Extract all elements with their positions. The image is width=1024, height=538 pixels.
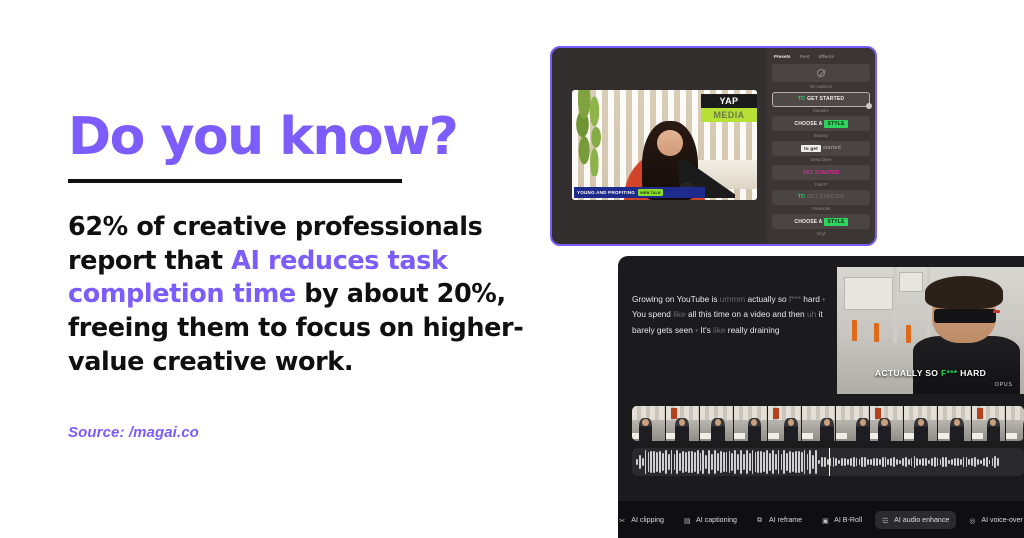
waveform-bar: [960, 459, 962, 465]
waveform-bar: [873, 458, 875, 467]
waveform-bar: [957, 458, 959, 465]
waveform-bar: [702, 450, 704, 474]
sunglasses-icon: [934, 309, 997, 323]
waveform-bar: [639, 455, 641, 469]
preset-karaoke-word-1: TO: [798, 96, 805, 102]
waveform-bar: [940, 459, 942, 465]
preset-bouncy-word-2: STYLE: [824, 120, 847, 128]
video-player[interactable]: ACTUALLY SO F*** HARD OPUS: [837, 267, 1024, 394]
frame-table: [700, 433, 711, 439]
frame-subject: [711, 418, 725, 441]
frame-subject: [987, 418, 1001, 441]
frame-subject: [820, 418, 834, 441]
frame-table: [802, 433, 813, 439]
waveform-bar: [821, 457, 823, 466]
waveform-bar: [844, 458, 846, 466]
waveform-bar: [911, 458, 913, 466]
preset-item-past-p[interactable]: GET STARTED Past P: [772, 165, 870, 187]
waveform-bar: [905, 457, 907, 467]
waveform-bar: [859, 459, 861, 464]
waveform-bar: [928, 460, 930, 465]
scissors-icon: ✂: [619, 516, 627, 524]
waveform-bar: [914, 456, 916, 467]
preset-label-karaoke: Karaoke: [813, 108, 829, 113]
waveform-bar: [749, 453, 751, 471]
waveform-bar: [642, 458, 644, 465]
waveform-bar: [879, 459, 881, 464]
waveform-bar: [769, 453, 771, 471]
tab-font[interactable]: Font: [800, 54, 810, 59]
waveform-bar: [708, 450, 710, 474]
preset-list: No captions TO GET STARTED Karaoke CHOOS…: [772, 64, 870, 236]
waveform-bar: [809, 450, 811, 474]
waveform-bar: [885, 457, 887, 468]
waveform-bar: [902, 458, 904, 467]
waveform-bar: [746, 450, 748, 474]
waveform-bar: [743, 454, 745, 469]
frame-accent: [773, 408, 780, 419]
timeline-editor-card: Growing on YouTube is ummm actually so f…: [618, 256, 1024, 538]
audio-waveform-track[interactable]: [632, 448, 1024, 476]
waveform-bar: [705, 455, 707, 470]
caption-overlay: ACTUALLY SO F*** HARD: [837, 368, 1024, 378]
transcript-word-group[interactable]: It's: [698, 325, 713, 335]
frame-subject: [784, 418, 798, 441]
waveform-bar: [850, 458, 852, 466]
sign-bottom-text: MEDIA: [701, 108, 757, 122]
waveform-bar: [755, 452, 757, 472]
title-divider: [68, 179, 402, 183]
waveform-bar: [980, 460, 982, 465]
waveform-bar: [997, 458, 999, 466]
preset-swatch-bouncy[interactable]: CHOOSE A STYLE: [772, 116, 870, 131]
filmstrip-frame[interactable]: [1006, 406, 1024, 441]
waveform-bar: [653, 451, 655, 472]
frame-subject: [748, 418, 762, 441]
transcript-filler-word[interactable]: •: [822, 294, 825, 304]
waveform-bar: [937, 458, 939, 466]
waveform-bar: [971, 458, 973, 466]
waveform-bar: [714, 450, 716, 474]
frame-bg: [1006, 406, 1024, 420]
waveform-bar: [835, 458, 837, 466]
waveform-bar: [720, 451, 722, 473]
waveform-bar: [734, 450, 736, 474]
preset-swatch-facebook[interactable]: TO GET STARTED: [772, 190, 870, 205]
waveform-bar: [679, 453, 681, 471]
waveform-bar: [674, 454, 676, 470]
waveform-bar: [954, 458, 956, 466]
filmstrip-frame[interactable]: [734, 406, 768, 441]
waveform-bar: [766, 450, 768, 473]
caption-highlight: F***: [941, 368, 957, 378]
waveform-bar: [700, 453, 702, 470]
transcript-word-group[interactable]: really draining: [726, 325, 780, 335]
waveform-bar: [853, 457, 855, 468]
frame-subject: [639, 418, 653, 441]
waveform-bar: [899, 460, 901, 465]
waveform-bar: [931, 458, 933, 466]
filmstrip-frame[interactable]: [666, 406, 700, 441]
waveform-bar: [792, 452, 794, 473]
waveform-bar: [945, 457, 947, 467]
filmstrip-frame[interactable]: [904, 406, 938, 441]
filmstrip-frame[interactable]: [802, 406, 836, 441]
frame-subject: [856, 418, 870, 441]
tab-effects[interactable]: Effects: [819, 54, 834, 59]
lower-third-banner: YOUNG AND PROFITING WEB TALK: [574, 187, 705, 198]
waveform-bar: [804, 450, 806, 473]
waveform-bar: [645, 450, 647, 473]
waveform-bar: [934, 457, 936, 468]
tab-presets[interactable]: Presets: [774, 54, 791, 59]
preset-item-bouncy[interactable]: CHOOSE A STYLE Bouncy: [772, 116, 870, 138]
waveform-bar: [731, 453, 733, 472]
waveform-bar: [812, 455, 814, 470]
crop-icon: ⧉: [757, 516, 765, 524]
preset-swatch-vinyl[interactable]: CHOOSE A STYLE: [772, 214, 870, 229]
preset-label-deep-diver: Deep Diver: [811, 157, 832, 162]
preset-vinyl-word-1: CHOOSE A: [794, 219, 822, 225]
transcript-filler-word[interactable]: uh: [807, 309, 816, 319]
ai-tools-toolbar: ✂AI clipping▤AI captioning⧉AI reframe▣AI…: [618, 501, 1024, 538]
waveform-bar: [726, 452, 728, 473]
caption-before: ACTUALLY SO: [875, 368, 941, 378]
captions-tabs: Presets Font Effects: [772, 54, 870, 64]
preset-deep-word-1: to get: [801, 145, 821, 152]
waveform-bar: [948, 460, 950, 465]
preset-item-karaoke[interactable]: TO GET STARTED Karaoke: [772, 92, 870, 114]
watermark-logo: OPUS: [995, 382, 1013, 388]
frame-accent: [977, 408, 984, 419]
waveform-bar: [974, 457, 976, 467]
waveform-bar: [916, 458, 918, 466]
waveform-bar: [676, 450, 678, 474]
timeline[interactable]: [632, 406, 1024, 476]
slide-root: Do you know? 62% of creative professiona…: [0, 0, 1024, 538]
waveform-bar: [778, 450, 780, 474]
video-preview[interactable]: YAP MEDIA YOUNG AND PROFITING WEB TALK: [572, 90, 757, 200]
waveform-bar: [922, 458, 924, 466]
preset-vinyl-word-2: STYLE: [824, 218, 847, 226]
frame-accent: [875, 408, 882, 419]
waveform-bar: [841, 458, 843, 466]
toolbar-item-ai-b-roll[interactable]: ▣AI B-Roll: [815, 511, 869, 529]
transcript-filler-word[interactable]: like: [713, 325, 725, 335]
waveform-bar: [867, 459, 869, 464]
waveform-bar: [992, 458, 994, 467]
toolbar-item-label: AI B-Roll: [834, 516, 862, 524]
waveform-bar: [723, 452, 725, 473]
waveform-bar: [786, 453, 788, 472]
waveform-bar: [951, 459, 953, 466]
filmstrip-frame[interactable]: [938, 406, 972, 441]
transcript-word-group[interactable]: all this time on a video and then: [686, 309, 807, 319]
preset-swatch-deep-diver[interactable]: to get started: [772, 141, 870, 156]
captions-editor-stage: YAP MEDIA YOUNG AND PROFITING WEB TALK: [552, 48, 767, 244]
preset-label-vinyl: Vinyl: [816, 231, 825, 236]
waveform-bar: [882, 457, 884, 467]
waveform-bar: [775, 454, 777, 469]
toolbar-item-label: AI voice-over: [981, 516, 1022, 524]
editor-upper-area: Growing on YouTube is ummm actually so f…: [618, 256, 1024, 394]
preset-label-bouncy: Bouncy: [814, 133, 828, 138]
waveform-bar: [801, 452, 803, 471]
waveform-bar: [861, 457, 863, 467]
waveform-bar: [740, 450, 742, 474]
page-title: Do you know?: [68, 110, 548, 165]
waveform-bar: [659, 451, 661, 474]
toolbar-item-ai-audio-enhance[interactable]: ☲AI audio enhance: [875, 511, 956, 529]
toolbar-item-ai-voice-over[interactable]: ◎AI voice-over: [962, 511, 1024, 529]
waveform-bar: [789, 451, 791, 474]
waveform-bar: [682, 451, 684, 474]
speaker-hair: [925, 276, 1004, 309]
waveform-bar: [925, 458, 927, 465]
backdrop-pipe-1: [893, 267, 897, 343]
waveform-bar: [781, 454, 783, 470]
captions-editor-card: YAP MEDIA YOUNG AND PROFITING WEB TALK P…: [550, 46, 877, 246]
waveform-bar: [729, 451, 731, 474]
frame-subject: [950, 418, 964, 441]
preset-deep-word-2: started: [823, 145, 841, 151]
preset-item-none[interactable]: No captions: [772, 64, 870, 89]
waveform-bar: [977, 459, 979, 466]
waveform-bar: [807, 454, 809, 471]
frame-table: [972, 433, 983, 439]
frame-subject: [914, 418, 928, 441]
frame-table: [938, 433, 949, 439]
sign-top-text: YAP: [701, 94, 757, 108]
waveform-bar: [697, 450, 699, 473]
waveform-bar: [798, 451, 800, 473]
waveform-bar: [717, 453, 719, 472]
waveform-bar: [864, 457, 866, 466]
waveform-bar: [919, 459, 921, 464]
waveform-bar: [983, 458, 985, 466]
backdrop-accent-1: [852, 320, 857, 340]
captions-side-panel: Presets Font Effects No captions TO GET …: [767, 48, 875, 244]
waveform-bar: [711, 454, 713, 471]
waveform-bar: [847, 459, 849, 464]
film-icon: ▣: [822, 516, 830, 524]
waveform-bars: [636, 448, 999, 476]
filmstrip-frame[interactable]: [632, 406, 666, 441]
filmstrip-frame[interactable]: [836, 406, 870, 441]
preset-swatch-karaoke[interactable]: TO GET STARTED: [772, 92, 870, 107]
backdrop-panel-1: [844, 277, 893, 310]
waveform-bar: [989, 460, 991, 465]
lower-third-text: YOUNG AND PROFITING: [577, 190, 635, 195]
filmstrip-frame[interactable]: [700, 406, 734, 441]
waveform-bar: [656, 452, 658, 472]
preset-label-none: No captions: [810, 84, 832, 89]
frame-table: [836, 433, 847, 439]
waveform-bar: [752, 450, 754, 473]
waveform-bar: [636, 459, 638, 464]
waveform-bar: [856, 458, 858, 467]
waveform-bar: [890, 458, 892, 466]
preset-bouncy-word-1: CHOOSE A: [794, 121, 822, 127]
waveform-bar: [648, 452, 650, 471]
waveform-bar: [908, 459, 910, 464]
captions-icon: ▤: [684, 516, 692, 524]
transcript-word-group[interactable]: actually so: [745, 294, 789, 304]
preset-fb-word-2: GET STARTED: [807, 194, 844, 200]
preset-item-facebook[interactable]: TO GET STARTED Facebook: [772, 190, 870, 212]
waveform-bar: [986, 457, 988, 466]
frame-table: [1006, 433, 1017, 439]
equalizer-icon: ☲: [882, 516, 890, 524]
frame-subject: [675, 418, 689, 441]
waveform-bar: [966, 457, 968, 467]
preset-label-past-p: Past P: [815, 182, 827, 187]
preset-label-facebook: Facebook: [812, 206, 830, 211]
toolbar-item-ai-clipping[interactable]: ✂AI clipping: [618, 511, 671, 529]
preset-swatch-past-p[interactable]: GET STARTED: [772, 165, 870, 180]
filmstrip-frame[interactable]: [768, 406, 802, 441]
waveform-bar: [668, 454, 670, 470]
caption-after: HARD: [957, 368, 986, 378]
filmstrip-frame[interactable]: [972, 406, 1006, 441]
preset-pastp-word: GET STARTED: [802, 170, 839, 176]
waveform-bar: [870, 459, 872, 465]
waveform-bar: [876, 458, 878, 466]
filmstrip-track[interactable]: [632, 406, 1024, 441]
transcript-filler-word[interactable]: ummm: [720, 294, 745, 304]
frame-subject: [878, 418, 892, 441]
waveform-bar: [665, 450, 667, 474]
preset-item-deep-diver[interactable]: to get started Deep Diver: [772, 141, 870, 163]
waveform-bar: [963, 457, 965, 467]
frame-table: [734, 433, 745, 439]
lower-third-pill: WEB TALK: [638, 189, 663, 196]
waveform-bar: [694, 452, 696, 472]
toolbar-item-ai-captioning[interactable]: ▤AI captioning: [677, 511, 744, 529]
toolbar-item-label: AI captioning: [696, 516, 737, 524]
waveform-bar: [691, 451, 693, 473]
waveform-bar: [685, 452, 687, 472]
body-copy: 62% of creative professionals report tha…: [68, 211, 548, 381]
waveform-bar: [662, 453, 664, 471]
toolbar-item-label: AI clipping: [631, 516, 664, 524]
filmstrip-frame[interactable]: [870, 406, 904, 441]
source-attribution: Source: /magai.co: [68, 424, 548, 441]
waveform-bar: [760, 451, 762, 473]
waveform-bar: [772, 450, 774, 474]
no-captions-icon: [817, 69, 825, 77]
transcript-panel[interactable]: Growing on YouTube is ummm actually so f…: [632, 292, 832, 338]
waveform-bar: [824, 457, 826, 467]
waveform-bar: [757, 451, 759, 473]
waveform-bar: [887, 459, 889, 465]
transcript-filler-word[interactable]: like: [673, 309, 685, 319]
studio-sign: YAP MEDIA: [701, 94, 757, 122]
waveform-bar: [968, 459, 970, 464]
waveform-bar: [833, 457, 835, 468]
waveform-bar: [838, 460, 840, 465]
plant-decor: [574, 90, 608, 176]
frame-accent: [671, 408, 678, 419]
waveform-bar: [763, 452, 765, 472]
toolbar-item-label: AI reframe: [769, 516, 802, 524]
waveform-bar: [994, 456, 996, 467]
waveform-bar: [815, 450, 817, 474]
no-captions-swatch[interactable]: [772, 64, 870, 82]
transcript-filler-word[interactable]: f***: [789, 294, 801, 304]
waveform-bar: [795, 451, 797, 472]
waveform-bar: [783, 450, 785, 474]
waveform-bar: [942, 457, 944, 467]
waveform-bar: [737, 454, 739, 470]
waveform-bar: [650, 451, 652, 473]
preset-item-vinyl[interactable]: CHOOSE A STYLE Vinyl: [772, 214, 870, 236]
waveform-bar: [688, 451, 690, 472]
transcript-word-group[interactable]: Growing on YouTube is: [632, 294, 720, 304]
waveform-bar: [671, 450, 673, 474]
preset-fb-word-1: TO: [798, 194, 805, 200]
waveform-bar: [893, 457, 895, 466]
toolbar-item-label: AI audio enhance: [894, 516, 949, 524]
waveform-bar: [896, 459, 898, 466]
text-column: Do you know? 62% of creative professiona…: [68, 110, 548, 441]
preset-karaoke-word-2: GET STARTED: [807, 96, 844, 102]
waveform-bar: [818, 460, 820, 465]
transcript-word-group[interactable]: You spend: [632, 309, 673, 319]
backdrop-accent-2: [874, 323, 879, 342]
playhead-handle[interactable]: [829, 448, 830, 476]
frame-table: [768, 433, 779, 439]
transcript-word-group[interactable]: hard: [801, 294, 822, 304]
voice-icon: ◎: [969, 516, 977, 524]
toolbar-item-ai-reframe[interactable]: ⧉AI reframe: [750, 511, 809, 529]
